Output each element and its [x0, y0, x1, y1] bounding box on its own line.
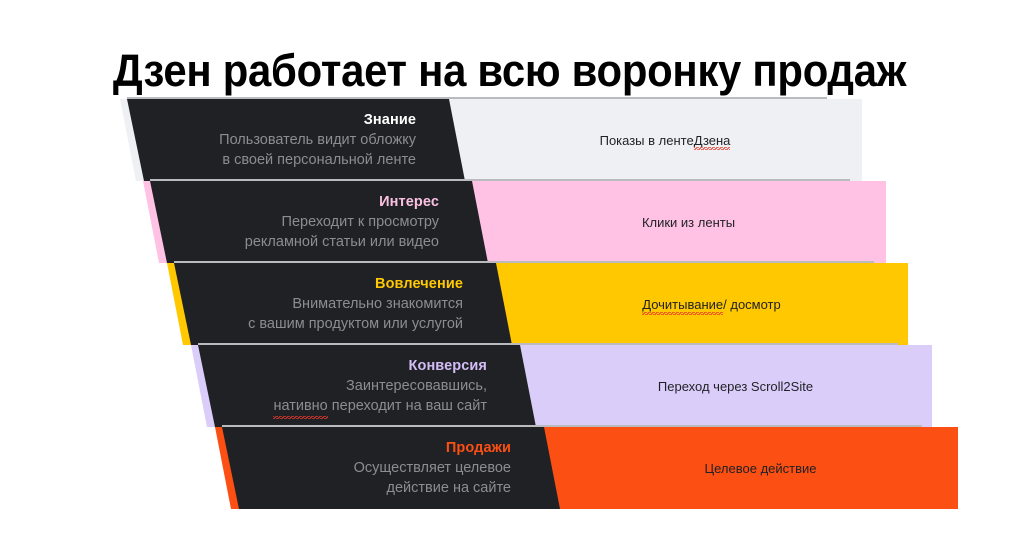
funnel-row-vovlechenie: Вовлечение Внимательно знакомится с ваши… [167, 263, 908, 345]
funnel-stage-panel-znanie [120, 99, 465, 181]
funnel-row-prodazhi: Продажи Осуществляет целевое действие на… [215, 427, 958, 509]
funnel-stage-panel-interes [143, 181, 488, 263]
funnel-stage-panel-konversiya [191, 345, 536, 427]
row-top-highlight [222, 425, 922, 427]
row-top-highlight [198, 343, 898, 345]
row-top-highlight [150, 179, 850, 181]
funnel-row-znanie: Знание Пользователь видит обложку в свое… [120, 99, 862, 181]
row-top-highlight [174, 261, 874, 263]
funnel-stage-panel-prodazhi [215, 427, 560, 509]
funnel-row-interes: Интерес Переходит к просмотру рекламной … [143, 181, 886, 263]
funnel-stage-panel-vovlechenie [167, 263, 512, 345]
funnel-row-konversiya: Конверсия Заинтересовавшись, нативно пер… [191, 345, 932, 427]
sales-funnel-diagram: Знание Пользователь видит обложку в свое… [0, 0, 1019, 538]
row-top-highlight [127, 97, 827, 99]
